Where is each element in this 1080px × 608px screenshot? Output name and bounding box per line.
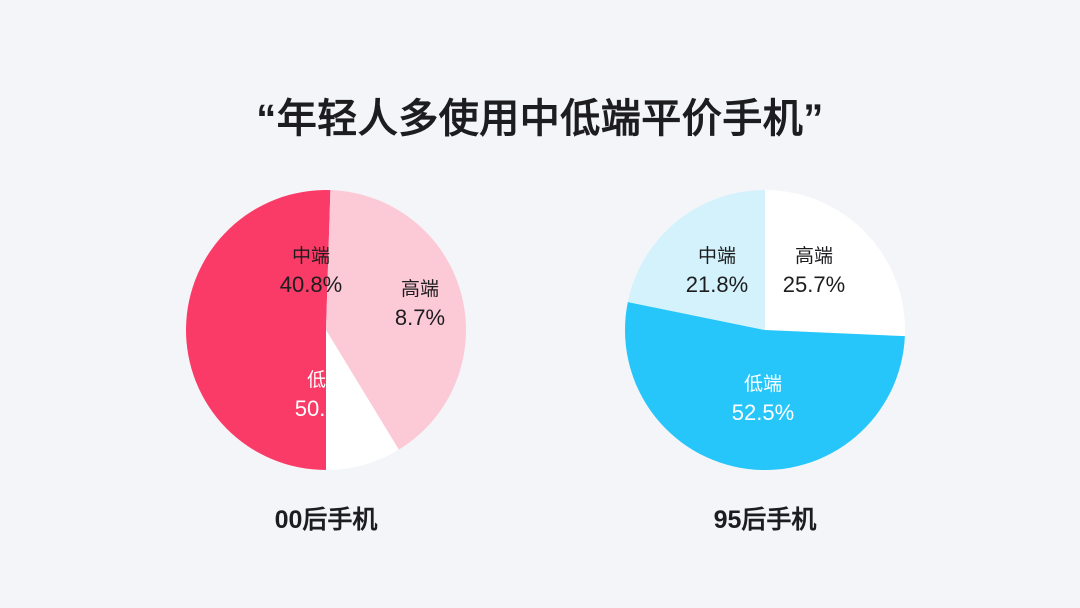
- pie-svg-00hou: 低端50.5%中端40.8%高端8.7%: [186, 190, 466, 470]
- pie-chart-95hou: 高端25.7%低端52.5%中端21.8%: [625, 190, 905, 470]
- pie-caption-00hou: 00后手机: [186, 500, 466, 536]
- slice-label-name-高端: 高端: [401, 278, 439, 300]
- slide-canvas: “年轻人多使用中低端平价手机” 低端50.5%中端40.8%高端8.7% 00后…: [0, 0, 1080, 608]
- pie-caption-95hou: 95后手机: [625, 500, 905, 536]
- slice-label-value-低端: 52.5%: [732, 400, 794, 425]
- slice-label-value-中端: 21.8%: [686, 272, 748, 297]
- slice-label-name-中端: 中端: [698, 245, 736, 267]
- page-title: “年轻人多使用中低端平价手机”: [0, 86, 1080, 144]
- slice-label-name-高端: 高端: [795, 245, 833, 267]
- pie-slice-高端[interactable]: [765, 190, 905, 336]
- slice-label-name-低端: 低端: [307, 369, 345, 391]
- pie-slice-低端[interactable]: [186, 190, 330, 470]
- slice-label-value-高端: 8.7%: [395, 305, 445, 330]
- slice-label-value-中端: 40.8%: [280, 272, 342, 297]
- slice-label-value-低端: 50.5%: [295, 396, 357, 421]
- pie-svg-95hou: 高端25.7%低端52.5%中端21.8%: [625, 190, 905, 470]
- pie-chart-00hou: 低端50.5%中端40.8%高端8.7%: [186, 190, 466, 470]
- slice-label-value-高端: 25.7%: [783, 272, 845, 297]
- slice-label-name-低端: 低端: [744, 373, 782, 395]
- slice-label-name-中端: 中端: [292, 245, 330, 267]
